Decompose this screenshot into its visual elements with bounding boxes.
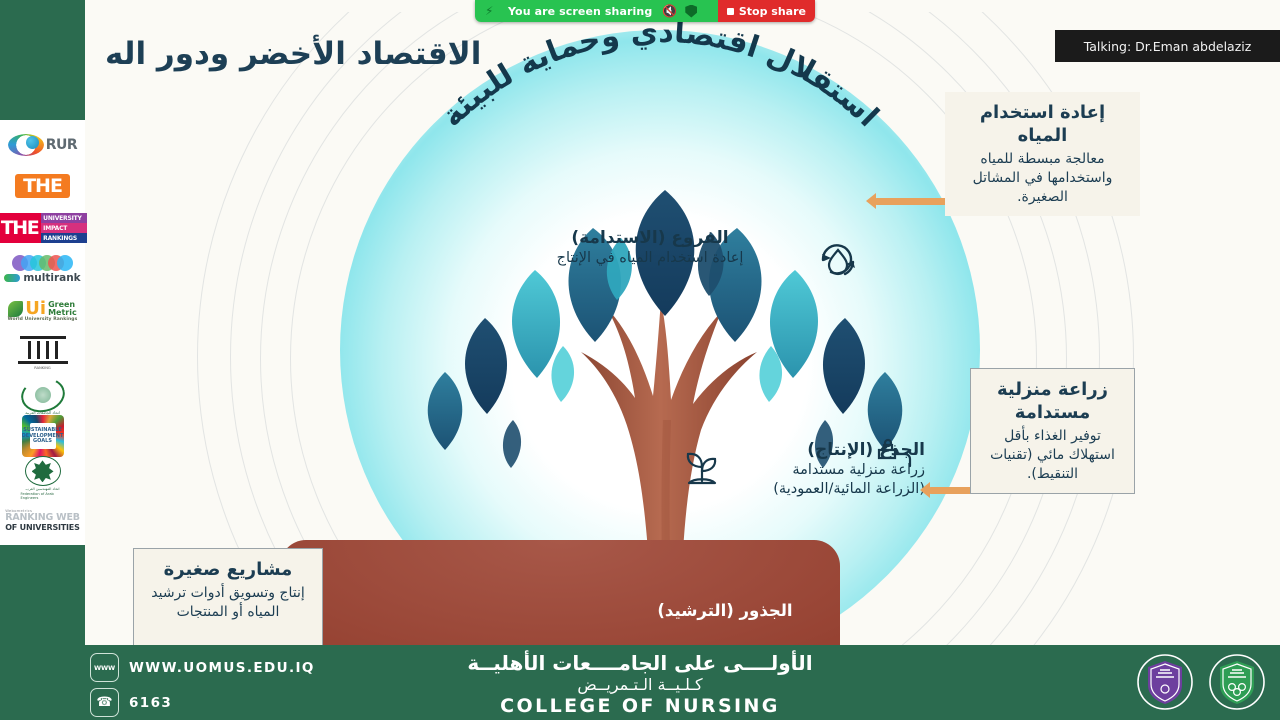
branches-body: إعادة استخدام المياه في الإنتاج xyxy=(485,249,815,268)
share-status-group: ⚡ You are screen sharing 🔇 xyxy=(475,0,718,22)
university-crest-purple xyxy=(1136,653,1194,711)
ui-greenmetric-logo: Ui Green Metric World University Ranking… xyxy=(4,291,82,333)
callout-home-farming: زراعة منزلية مستدامة توفير الغذاء بأقل ا… xyxy=(970,368,1135,494)
arab-universities-caption: اتحاد الجامعات العربية xyxy=(25,410,60,415)
roots-heading: الجذور (الترشيد) xyxy=(595,600,855,621)
the-impact-rankings-logo: THE UNIVERSITY IMPACT RANKINGS xyxy=(4,207,82,249)
callout-water-reuse-body: معالجة مبسطة للمياه واستخدامها في المشات… xyxy=(957,150,1128,207)
the-impact-mark: THE xyxy=(0,213,41,243)
stop-share-label: Stop share xyxy=(739,5,806,18)
accreditation-rail: RUR THE THE UNIVERSITY IMPACT RANKINGS xyxy=(0,0,85,645)
stop-square-icon xyxy=(727,8,734,15)
arc-text-path: استقلال اقتصادي وحماية للبيئة xyxy=(435,15,886,134)
ui-greenmetric-metric: Metric xyxy=(48,309,77,317)
screen: استقلال اقتصادي وحماية للبيئة xyxy=(0,0,1280,720)
callout-home-farming-heading: زراعة منزلية مستدامة xyxy=(983,378,1122,424)
ui-greenmetric-u: Ui xyxy=(25,301,46,316)
callout-small-projects-body: إنتاج وتسويق أدوات ترشيد المياه أو المنت… xyxy=(146,584,310,622)
ranking-web-universities-logo: Webometrics RANKING WEB OF UNIVERSITIES xyxy=(4,499,82,541)
banner-english: COLLEGE OF NURSING xyxy=(0,695,1280,717)
callout-small-projects: مشاريع صغيرة إنتاج وتسويق أدوات ترشيد ال… xyxy=(133,548,323,645)
active-speaker-badge: Talking: Dr.Eman abdelaziz xyxy=(1055,30,1280,62)
shared-slide: استقلال اقتصادي وحماية للبيئة xyxy=(85,0,1280,645)
callout-water-reuse: إعادة استخدام المياه معالجة مبسطة للمياه… xyxy=(945,92,1140,216)
shield-icon[interactable] xyxy=(685,5,697,18)
ranking-web-line2: OF UNIVERSITIES xyxy=(5,523,79,532)
callout-home-farming-body: توفير الغذاء بأقل استهلاك مائي (تقنيات ا… xyxy=(983,427,1122,484)
greek-temple-caption: RANKING xyxy=(34,366,50,370)
faucet-icon xyxy=(875,438,919,474)
water-recycle-icon xyxy=(815,238,861,280)
bolt-icon: ⚡ xyxy=(485,5,498,18)
soil-mound xyxy=(280,540,840,645)
ranking-web-line1: RANKING WEB xyxy=(5,513,80,523)
callout-small-projects-heading: مشاريع صغيرة xyxy=(146,558,310,581)
banner-arabic-line1: الأولــــى على الجامــــعات الأهليــة xyxy=(0,651,1280,675)
the-logo: THE xyxy=(4,166,82,208)
callout-water-reuse-heading: إعادة استخدام المياه xyxy=(957,101,1128,147)
ui-greenmetric-sub: World University Rankings xyxy=(8,317,78,322)
rur-logo-text: RUR xyxy=(46,137,77,153)
university-crest-green xyxy=(1208,653,1266,711)
the-impact-line-2: IMPACT xyxy=(41,223,87,233)
federation-caption-ar: اتحاد المهندسين العرب xyxy=(25,487,59,491)
the-impact-line-3: RANKINGS xyxy=(41,233,87,243)
the-logo-text: THE xyxy=(15,174,70,198)
crest-group xyxy=(1136,653,1266,711)
the-impact-line-1: UNIVERSITY xyxy=(41,213,87,223)
active-speaker-text: Talking: Dr.Eman abdelaziz xyxy=(1084,39,1252,54)
federation-arab-engineers-logo: اتحاد المهندسين العرب Federation of Arab… xyxy=(4,457,82,499)
branches-label: الفروع (الاستدامة) إعادة استخدام المياه … xyxy=(485,228,815,268)
branches-heading: الفروع (الاستدامة) xyxy=(485,228,815,249)
banner-arabic-line2: كـلـيــة الـتـمريــض xyxy=(0,675,1280,695)
sdg-goals-text: SUSTAINABLE DEVELOPMENT GOALS xyxy=(30,423,56,449)
sprout-icon xyxy=(680,445,724,489)
stop-share-button[interactable]: Stop share xyxy=(718,0,815,22)
banner-titles: الأولــــى على الجامــــعات الأهليــة كـ… xyxy=(0,651,1280,717)
arab-universities-union-logo: اتحاد الجامعات العربية xyxy=(4,374,82,416)
sdg-goals-logo: SUSTAINABLE DEVELOPMENT GOALS xyxy=(4,415,82,457)
rur-logo: RUR xyxy=(4,124,82,166)
bottom-banner: WWW WWW.UOMUS.EDU.IQ ☎ 6163 الأولــــى ع… xyxy=(0,645,1280,720)
screen-share-toolbar[interactable]: ⚡ You are screen sharing 🔇 Stop share xyxy=(475,0,815,22)
svg-text:استقلال اقتصادي وحماية للبيئة: استقلال اقتصادي وحماية للبيئة xyxy=(435,15,886,134)
multirank-logo: multirank xyxy=(4,249,82,291)
accreditation-logo-strip: RUR THE THE UNIVERSITY IMPACT RANKINGS xyxy=(0,120,85,545)
greek-temple-logo: RANKING xyxy=(4,332,82,374)
slide-canvas: استقلال اقتصادي وحماية للبيئة xyxy=(85,0,1280,645)
multirank-logo-text: multirank xyxy=(23,272,80,284)
share-status-text: You are screen sharing xyxy=(508,5,652,18)
roots-label: الجذور (الترشيد) xyxy=(595,600,855,621)
page-title: الاقتصاد الأخضر ودور اله xyxy=(105,36,481,72)
microphone-muted-icon[interactable]: 🔇 xyxy=(662,5,675,18)
